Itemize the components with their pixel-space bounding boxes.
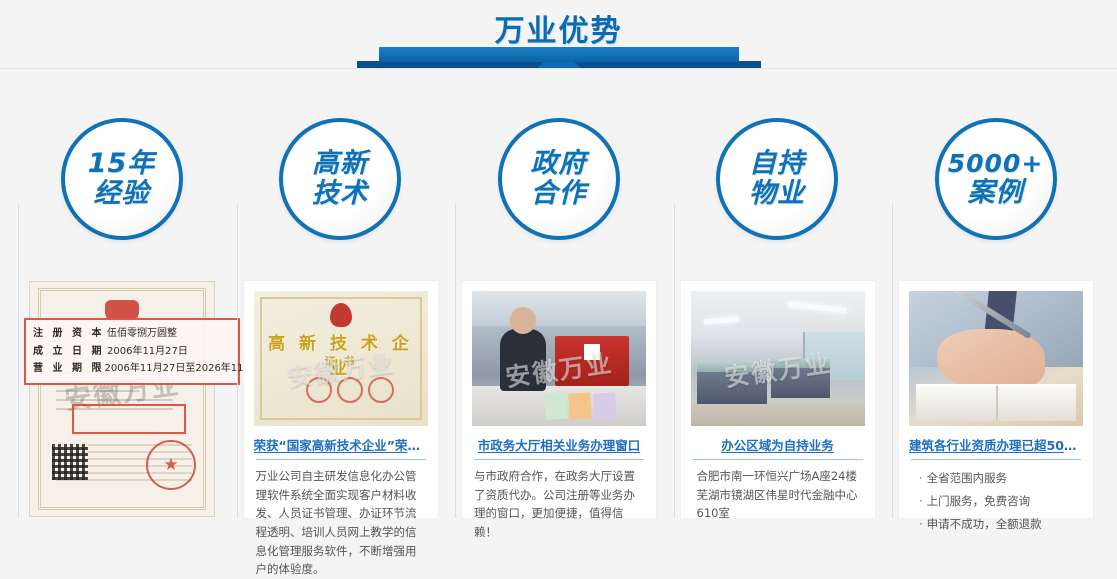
list-item: 上门服务，免费咨询 — [919, 490, 1083, 513]
card-title[interactable]: 建筑各行业资质办理已超5000家 — [909, 435, 1083, 454]
license-value: 伍佰零捌万圆整 — [107, 325, 231, 343]
title-underline — [474, 459, 644, 460]
benefit-list: 全省范围内服务 上门服务，免费咨询 申请不成功，全额退款 — [909, 467, 1083, 536]
high-tech-certificate-image: 高 新 技 术 企 业 证 书 安徽万业 — [254, 291, 428, 426]
notebook-area — [916, 384, 1076, 421]
card-title[interactable]: 荣获“国家高新技术企业”荣誉称号 — [254, 435, 428, 454]
title-underline — [911, 459, 1081, 460]
license-row-founded: 成 立 日 期 2006年11月27日 — [33, 343, 231, 361]
license-row-term: 营 业 期 限 2006年11月27日至2026年11月26日 — [33, 360, 231, 378]
card-title[interactable]: 市政务大厅相关业务办理窗口 — [472, 435, 646, 454]
government-hall-image: 安徽万业 — [472, 291, 646, 426]
license-key: 营 业 期 限 — [33, 360, 104, 378]
card-panel: 安徽万业 办公区域为自持业务 合肥市南一环恒兴广场A座24楼 芜湖市镜湖区伟星时… — [681, 281, 875, 518]
paper-green — [544, 393, 568, 420]
badge-line1: 政府 — [531, 149, 587, 179]
office-area-image: 安徽万业 — [691, 291, 865, 426]
badge-line1: 15年 — [88, 149, 156, 179]
license-key: 成 立 日 期 — [33, 343, 107, 361]
card-qualification-cases[interactable]: 建筑各行业资质办理已超5000家 全省范围内服务 上门服务，免费咨询 申请不成功… — [892, 203, 1099, 518]
card-panel: 安徽万业 注 册 资 本 伍佰零捌万圆整 成 立 日 期 2006年11月27日… — [25, 281, 219, 518]
banner-top-face — [379, 47, 739, 62]
ceiling-area — [472, 291, 646, 326]
list-item: 全省范围内服务 — [919, 467, 1083, 490]
card-panel: 安徽万业 市政务大厅相关业务办理窗口 与市政府合作，在政务大厅设置了资质代办。公… — [462, 281, 656, 518]
advantage-card-row: 安徽万业 注 册 资 本 伍佰零捌万圆整 成 立 日 期 2006年11月27日… — [0, 203, 1117, 518]
floor-area — [691, 402, 865, 426]
signing-hand-image — [909, 291, 1083, 426]
paper-purple — [593, 393, 617, 420]
badge-line1: 高新 — [312, 149, 368, 179]
highlight-box-secondary — [72, 404, 186, 434]
license-value: 2006年11月27日 — [107, 343, 231, 361]
title-banner-decoration — [0, 42, 1117, 68]
advantages-section: 万业优势 15年 经验 高新 技术 政府 合作 — [0, 0, 1117, 518]
flame-logo-icon — [330, 303, 352, 327]
card-body-text: 与市政府合作，在政务大厅设置了资质代办。公司注册等业务办理的窗口，更加便捷，值得… — [472, 467, 646, 542]
paper-orange — [569, 393, 593, 420]
title-underline — [256, 459, 426, 460]
license-key: 注 册 资 本 — [33, 325, 107, 343]
license-highlight-overlay: 注 册 资 本 伍佰零捌万圆整 成 立 日 期 2006年11月27日 营 业 … — [24, 318, 240, 385]
business-license-image: 安徽万业 — [29, 281, 215, 517]
section-header: 万业优势 — [0, 0, 1117, 69]
card-business-license[interactable]: 安徽万业 注 册 资 本 伍佰零捌万圆整 成 立 日 期 2006年11月27日… — [18, 203, 225, 518]
qr-code-icon — [52, 444, 88, 480]
badge-line1: 5000+ — [948, 150, 1044, 178]
red-seal-icon — [146, 440, 196, 490]
ceiling-area — [691, 291, 865, 337]
card-panel: 高 新 技 术 企 业 证 书 安徽万业 荣获“国家高新技术企业”荣誉称号 万业… — [244, 281, 438, 518]
card-high-tech-enterprise[interactable]: 高 新 技 术 企 业 证 书 安徽万业 荣获“国家高新技术企业”荣誉称号 万业… — [237, 203, 444, 518]
license-row-capital: 注 册 资 本 伍佰零捌万圆整 — [33, 325, 231, 343]
card-body-text: 合肥市南一环恒兴广场A座24楼 芜湖市镜湖区伟星时代金融中心610室 — [691, 467, 865, 523]
list-item: 申请不成功，全额退款 — [919, 513, 1083, 536]
title-underline — [693, 459, 863, 460]
card-government-service-window[interactable]: 安徽万业 市政务大厅相关业务办理窗口 与市政府合作，在政务大厅设置了资质代办。公… — [455, 203, 662, 518]
badge-line1: 自持 — [749, 149, 805, 179]
card-body-text: 万业公司自主研发信息化办公管理软件系统全面实现客户材料收发、人员证书管理、办证环… — [254, 467, 428, 579]
card-panel: 建筑各行业资质办理已超5000家 全省范围内服务 上门服务，免费咨询 申请不成功… — [899, 281, 1093, 518]
card-own-office-area[interactable]: 安徽万业 办公区域为自持业务 合肥市南一环恒兴广场A座24楼 芜湖市镜湖区伟星时… — [674, 203, 881, 518]
card-title[interactable]: 办公区域为自持业务 — [691, 435, 865, 454]
